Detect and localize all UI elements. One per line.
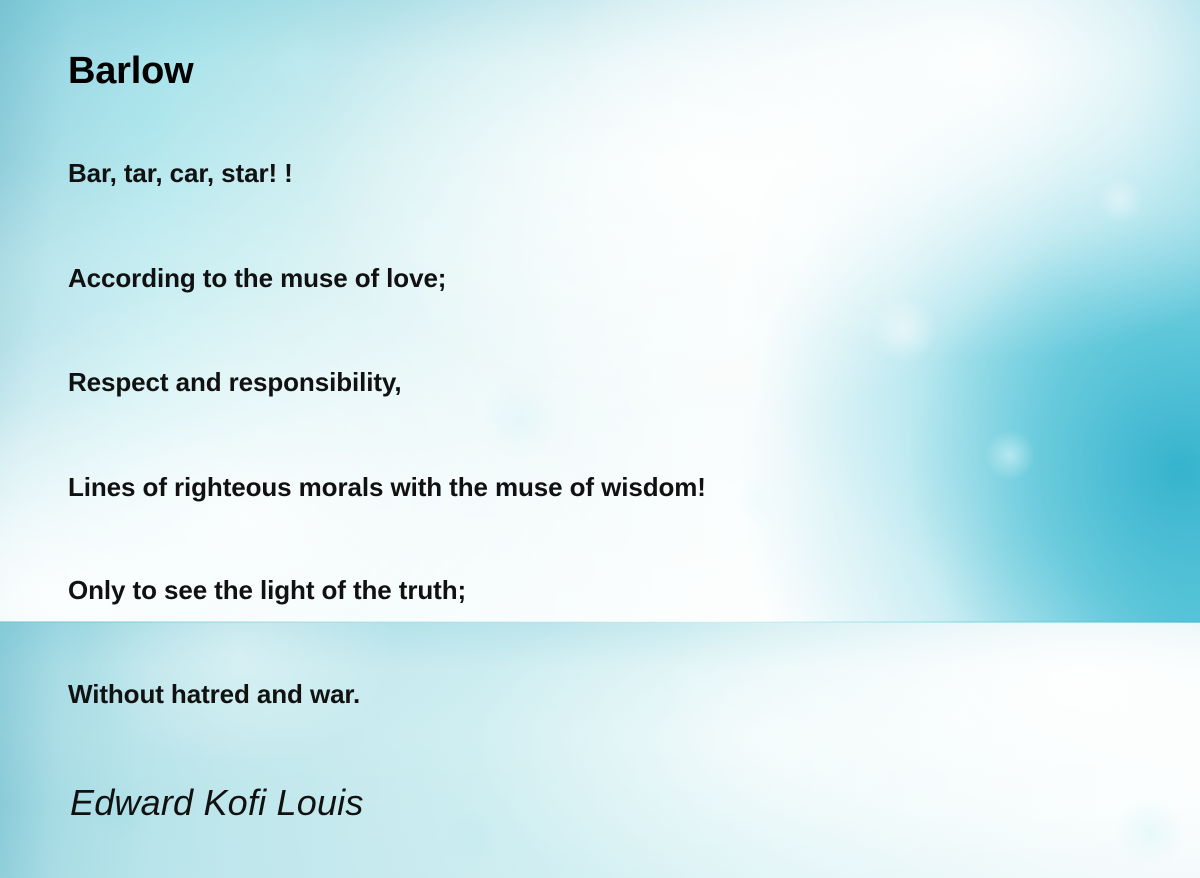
poem-title: Barlow xyxy=(68,50,194,93)
poem-image: Barlow Bar, tar, car, star! ! According … xyxy=(0,0,1200,878)
poem-line-6: Without hatred and war. xyxy=(68,679,360,710)
poem-line-5: Only to see the light of the truth; xyxy=(68,575,466,606)
poem-text-layer: Barlow Bar, tar, car, star! ! According … xyxy=(0,0,1200,878)
poem-line-2: According to the muse of love; xyxy=(68,263,446,294)
poem-author: Edward Kofi Louis xyxy=(70,782,364,824)
poem-line-1: Bar, tar, car, star! ! xyxy=(68,158,293,189)
poem-line-3: Respect and responsibility, xyxy=(68,367,401,398)
poem-line-4: Lines of righteous morals with the muse … xyxy=(68,472,706,503)
